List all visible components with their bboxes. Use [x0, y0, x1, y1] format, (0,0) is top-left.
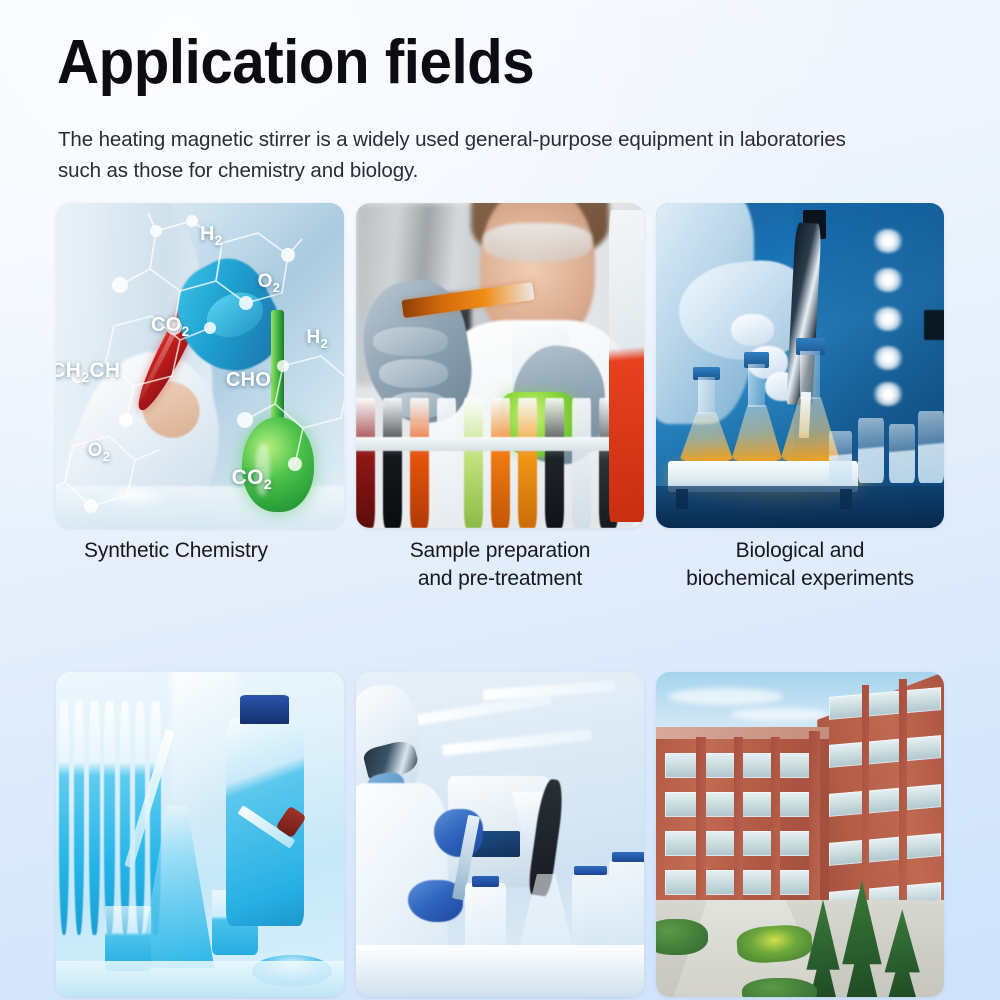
caption-synthetic-chemistry: Synthetic Chemistry — [56, 537, 344, 565]
cloud-2 — [731, 708, 829, 721]
test-tube-4 — [104, 701, 114, 935]
formula-ch2ch-left: CH2CH — [56, 359, 120, 386]
bush-left — [656, 919, 708, 955]
thumbnail-sample-preparation[interactable] — [356, 203, 644, 528]
application-card-biological-biochemical[interactable]: Biological and biochemical experiments — [656, 203, 944, 593]
bench-reflection — [656, 486, 944, 528]
ceiling-light-1 — [402, 693, 552, 727]
glove-finger-1 — [373, 327, 448, 356]
flask-body — [731, 405, 783, 462]
tube-dark-red — [356, 398, 375, 528]
light-panel-5 — [872, 382, 904, 406]
page-title: Application fields — [57, 31, 534, 94]
glove-finger-2 — [379, 359, 448, 388]
wall-fixture — [924, 310, 944, 339]
glove-knuckle-1 — [731, 314, 774, 347]
light-panel-3 — [872, 307, 904, 331]
jar-cap — [612, 852, 644, 862]
test-tube-5 — [120, 701, 130, 935]
thumbnail-physical-chemistry[interactable] — [56, 672, 344, 997]
test-tube-3 — [89, 701, 99, 935]
vial-3 — [889, 424, 915, 483]
light-panel-4 — [872, 346, 904, 370]
application-fields-page: Application fields The heating magnetic … — [0, 0, 1000, 1000]
tube-clear-1 — [437, 398, 456, 528]
caption-line-2: and pre-treatment — [418, 567, 582, 590]
application-card-laboratory[interactable]: Laboratory — [356, 672, 644, 1000]
formula-co2-lower-right: CO2 — [232, 466, 272, 493]
pillar-l3 — [771, 737, 780, 906]
application-card-education-industry[interactable]: Education industry — [656, 672, 944, 1000]
caption-line-1: Biological and — [736, 539, 865, 562]
flask-neck — [800, 351, 819, 400]
graduated-cylinder-red — [609, 210, 644, 522]
ceiling-light-2 — [442, 729, 592, 756]
lab-bench — [356, 945, 644, 997]
tube-black-2 — [545, 398, 564, 528]
caption-biological-biochemical: Biological and biochemical experiments — [656, 537, 944, 593]
caption-sample-preparation: Sample preparation and pre-treatment — [356, 537, 644, 593]
tube-amber — [518, 398, 537, 528]
test-tube-rack — [356, 398, 644, 528]
bottle-cap — [472, 876, 499, 887]
bench-top — [56, 961, 344, 997]
flask-2 — [731, 364, 783, 462]
flask-1 — [679, 377, 734, 462]
rack-support-bar — [356, 437, 644, 451]
application-card-synthetic-chemistry[interactable]: H2 O2 CO2 CH2CH CHO H2 O2 CO2 Synthetic … — [56, 203, 344, 593]
tube-clear-2 — [572, 398, 591, 528]
tube-orange-2 — [491, 398, 510, 528]
tube-pale-green — [464, 398, 483, 528]
test-tube-1 — [59, 701, 69, 935]
thumbnail-biological-biochemical[interactable] — [656, 203, 944, 528]
thumbnail-education-industry[interactable] — [656, 672, 944, 997]
formula-o2-upper-right: O2 — [258, 271, 281, 295]
cloud-1 — [668, 688, 783, 704]
flask-body — [679, 412, 734, 461]
vial-2 — [858, 418, 884, 483]
thumbnail-synthetic-chemistry[interactable]: H2 O2 CO2 CH2CH CHO H2 O2 CO2 — [56, 203, 344, 528]
formula-o2-lower-left: O2 — [88, 440, 111, 464]
pillar-l1 — [696, 737, 705, 906]
flask-neck — [698, 377, 716, 414]
formula-h2-top: H2 — [200, 223, 223, 248]
pillar-l2 — [734, 737, 743, 906]
formula-co2-middle: CO2 — [151, 314, 189, 339]
formula-h2-right: H2 — [307, 327, 329, 351]
safety-goggles — [483, 223, 592, 262]
application-card-physical-chemistry[interactable]: Physical Chemistry Experiment — [56, 672, 344, 1000]
reagent-bottle-cap — [240, 695, 289, 724]
light-panel-1 — [872, 229, 904, 253]
application-card-sample-preparation[interactable]: Sample preparation and pre-treatment — [356, 203, 644, 593]
page-subtitle: The heating magnetic stirrer is a widely… — [58, 124, 888, 186]
tube-orange-1 — [410, 398, 429, 528]
jar-cap — [574, 866, 607, 875]
flask-neck — [748, 364, 765, 407]
sample-jar-2 — [609, 861, 644, 952]
caption-line-1: Sample preparation — [410, 539, 591, 562]
bush-front — [742, 978, 817, 998]
vial-1 — [829, 431, 852, 483]
vial-4 — [918, 411, 944, 483]
light-panel-2 — [872, 268, 904, 292]
pillar-corner — [809, 731, 821, 913]
caption-line-2: biochemical experiments — [686, 567, 914, 590]
application-fields-grid: H2 O2 CO2 CH2CH CHO H2 O2 CO2 Synthetic … — [56, 203, 944, 1000]
tube-black-1 — [383, 398, 402, 528]
thumbnail-laboratory[interactable] — [356, 672, 644, 997]
sample-jar-1 — [572, 874, 609, 952]
formula-cho-center: CHO — [226, 369, 271, 392]
test-tube-2 — [74, 701, 84, 935]
